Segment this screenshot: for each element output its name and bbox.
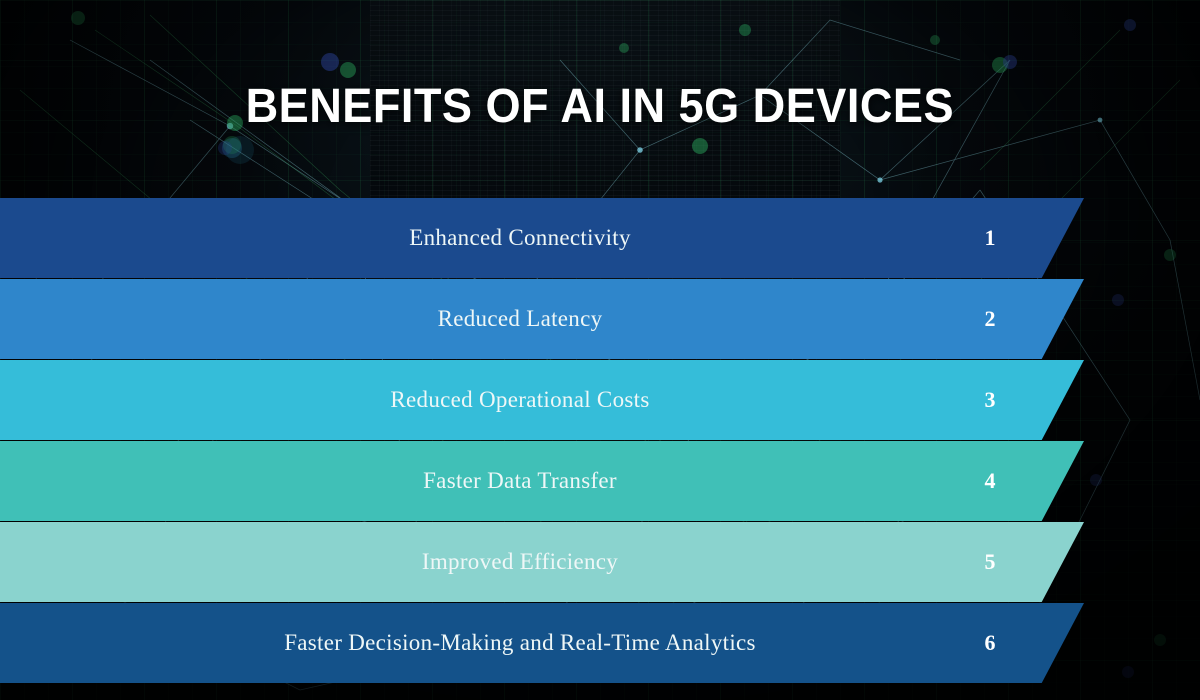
benefit-label: Faster Decision-Making and Real-Time Ana… — [0, 630, 1040, 656]
benefit-bar[interactable]: Faster Data Transfer4 — [0, 441, 1084, 521]
benefit-bar[interactable]: Reduced Latency2 — [0, 279, 1084, 359]
benefit-label: Improved Efficiency — [0, 549, 1040, 575]
infographic-canvas: BENEFITS OF AI IN 5G DEVICES Enhanced Co… — [0, 0, 1200, 700]
benefit-label: Reduced Operational Costs — [0, 387, 1040, 413]
benefit-bar[interactable]: Reduced Operational Costs3 — [0, 360, 1084, 440]
benefit-bar[interactable]: Faster Decision-Making and Real-Time Ana… — [0, 603, 1084, 683]
benefit-bar[interactable]: Improved Efficiency5 — [0, 522, 1084, 602]
benefit-number: 5 — [958, 549, 1022, 575]
benefit-number: 1 — [958, 225, 1022, 251]
benefit-label: Reduced Latency — [0, 306, 1040, 332]
benefit-number: 4 — [958, 468, 1022, 494]
page-title: BENEFITS OF AI IN 5G DEVICES — [246, 82, 954, 132]
benefit-number: 6 — [958, 630, 1022, 656]
benefits-list: Enhanced Connectivity1Reduced Latency2Re… — [0, 198, 1200, 684]
benefit-bar[interactable]: Enhanced Connectivity1 — [0, 198, 1084, 278]
title-container: BENEFITS OF AI IN 5G DEVICES — [0, 82, 1200, 132]
benefit-label: Enhanced Connectivity — [0, 225, 1040, 251]
benefit-number: 3 — [958, 387, 1022, 413]
benefit-number: 2 — [958, 306, 1022, 332]
benefit-label: Faster Data Transfer — [0, 468, 1040, 494]
